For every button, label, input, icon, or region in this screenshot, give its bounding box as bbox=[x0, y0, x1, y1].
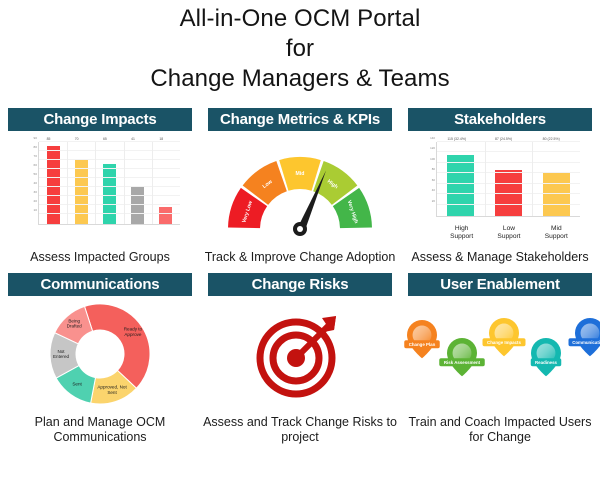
pin-icon: Readiness bbox=[531, 338, 562, 376]
panel-change-metrics-kpis[interactable]: Change Metrics & KPIs Very LowLowMidHigh… bbox=[200, 108, 400, 265]
chart-gridline bbox=[437, 183, 580, 184]
pin-icon: Communications bbox=[569, 318, 600, 356]
chart-plot-area: 115 (32.4%)87 (24.5%)80 (22.5%) 20406080… bbox=[436, 142, 580, 217]
chart-gridline bbox=[67, 142, 68, 224]
panel-body-user-enablement: Change PlanRisk AssessmentChange Impacts… bbox=[400, 296, 600, 411]
donut-slice-label: Sent bbox=[72, 381, 82, 386]
page-title: All-in-One OCM Portal for Change Manager… bbox=[0, 0, 600, 94]
pin-label: Change Plan bbox=[409, 341, 436, 346]
panel-row-bottom: Communications Ready toApproveApproved, … bbox=[0, 273, 600, 445]
chart-gridline bbox=[437, 151, 580, 152]
chart-bar: 18 bbox=[159, 207, 172, 223]
chart-x-tick-label: LowSupport bbox=[486, 225, 532, 241]
chart-bar: 80 (22.5%) bbox=[543, 173, 570, 215]
chart-y-tick-label: 40 bbox=[432, 188, 435, 192]
chart-x-tick-label: HighSupport bbox=[439, 225, 485, 241]
chart-y-tick-label: 50 bbox=[34, 172, 37, 176]
panel-caption-change-risks: Assess and Track Change Risks to project bbox=[202, 415, 398, 445]
pin-icon: Risk Assessment bbox=[439, 338, 485, 376]
chart-gridline bbox=[437, 172, 580, 173]
chart-gridline bbox=[39, 204, 180, 205]
donut-slice-label: BeingDrafted bbox=[67, 318, 83, 328]
gauge-hub-center bbox=[297, 226, 303, 232]
chart-gridline bbox=[437, 141, 580, 142]
chart-y-tick-label: 20 bbox=[432, 199, 435, 203]
chart-bars: 8570654118 bbox=[39, 142, 180, 224]
panel-caption-stakeholders: Assess & Manage Stakeholders bbox=[402, 250, 598, 265]
chart-y-tick-label: 60 bbox=[432, 178, 435, 182]
chart-y-tick-label: 120 bbox=[430, 146, 435, 150]
chart-y-tick-label: 80 bbox=[432, 167, 435, 171]
pin-label: Change Impacts bbox=[487, 339, 521, 344]
chart-gridline bbox=[437, 193, 580, 194]
chart-bar-group: 85 bbox=[47, 142, 60, 224]
chart-gridline bbox=[39, 150, 180, 151]
pin-icon: Change Impacts bbox=[483, 318, 526, 356]
chart-gridline bbox=[437, 162, 580, 163]
panel-caption-change-impacts: Assess Impacted Groups bbox=[2, 250, 198, 265]
user-enablement-pin-icons: Change PlanRisk AssessmentChange Impacts… bbox=[400, 302, 600, 406]
panel-body-stakeholders: 115 (32.4%)87 (24.5%)80 (22.5%) 20406080… bbox=[400, 131, 600, 246]
page-title-line-3: Change Managers & Teams bbox=[0, 64, 600, 94]
chart-bar: 65 bbox=[103, 164, 116, 223]
page-title-line-2: for bbox=[0, 34, 600, 64]
chart-y-tick-label: 140 bbox=[430, 136, 435, 140]
panel-header-stakeholders[interactable]: Stakeholders bbox=[408, 108, 592, 131]
page-title-line-1: All-in-One OCM Portal bbox=[0, 4, 600, 34]
chart-gridline bbox=[485, 142, 486, 216]
panel-stakeholders[interactable]: Stakeholders 115 (32.4%)87 (24.5%)80 (22… bbox=[400, 108, 600, 265]
chart-plot-area: 8570654118 102030405060708090 bbox=[38, 142, 180, 225]
chart-gridline bbox=[39, 195, 180, 196]
pin-label: Communications bbox=[572, 339, 600, 344]
chart-communications-donut: Ready toApproveApproved, NotSentSentNotE… bbox=[45, 299, 155, 409]
chart-gridline bbox=[39, 186, 180, 187]
panel-row-top: Change Impacts 8570654118 10203040506070… bbox=[0, 108, 600, 265]
chart-x-axis-labels: HighSupportLowSupportMidSupport bbox=[438, 225, 580, 241]
chart-gridline bbox=[39, 141, 180, 142]
chart-gridline bbox=[39, 168, 180, 169]
chart-gridline bbox=[437, 204, 580, 205]
chart-y-tick-label: 10 bbox=[34, 208, 37, 212]
panel-body-change-risks bbox=[200, 296, 400, 411]
chart-bar: 85 bbox=[47, 146, 60, 223]
chart-gridline bbox=[124, 142, 125, 224]
panel-header-change-metrics-kpis[interactable]: Change Metrics & KPIs bbox=[208, 108, 392, 131]
chart-bar-group: 65 bbox=[103, 142, 116, 224]
panel-user-enablement[interactable]: User Enablement Change PlanRisk Assessme… bbox=[400, 273, 600, 445]
panel-header-communications[interactable]: Communications bbox=[8, 273, 192, 296]
panel-body-change-impacts: 8570654118 102030405060708090 bbox=[0, 131, 200, 246]
chart-y-tick-label: 60 bbox=[34, 163, 37, 167]
panel-caption-communications: Plan and Manage OCM Communications bbox=[2, 415, 198, 445]
chart-gridline bbox=[95, 142, 96, 224]
pin-icon: Change Plan bbox=[404, 320, 440, 358]
chart-y-tick-label: 80 bbox=[34, 145, 37, 149]
chart-y-tick-label: 30 bbox=[34, 190, 37, 194]
chart-change-impacts: 8570654118 102030405060708090 bbox=[16, 137, 184, 241]
donut-slice-label: Ready toApprove bbox=[124, 326, 143, 336]
panel-header-change-impacts[interactable]: Change Impacts bbox=[8, 108, 192, 131]
gauge-segment-label: Mid bbox=[296, 171, 305, 177]
chart-gridline bbox=[39, 159, 180, 160]
panel-communications[interactable]: Communications Ready toApproveApproved, … bbox=[0, 273, 200, 445]
chart-gridline bbox=[39, 177, 180, 178]
pin-label: Readiness bbox=[535, 359, 558, 364]
chart-y-tick-label: 100 bbox=[430, 157, 435, 161]
panel-change-impacts[interactable]: Change Impacts 8570654118 10203040506070… bbox=[0, 108, 200, 265]
panel-change-risks[interactable]: Change Risks Assess and Track Change Ris… bbox=[200, 273, 400, 445]
chart-y-tick-label: 20 bbox=[34, 199, 37, 203]
chart-gridline bbox=[152, 142, 153, 224]
chart-gauge-kpi: Very LowLowMidHighVery High bbox=[214, 137, 386, 241]
chart-y-tick-label: 40 bbox=[34, 181, 37, 185]
chart-gridline bbox=[532, 142, 533, 216]
panel-header-change-risks[interactable]: Change Risks bbox=[208, 273, 392, 296]
panel-body-change-metrics-kpis: Very LowLowMidHighVery High bbox=[200, 131, 400, 246]
panel-body-communications: Ready toApproveApproved, NotSentSentNotE… bbox=[0, 296, 200, 411]
chart-x-tick-label: MidSupport bbox=[533, 225, 579, 241]
chart-y-tick-label: 90 bbox=[34, 136, 37, 140]
chart-gridline bbox=[39, 213, 180, 214]
panel-caption-change-metrics-kpis: Track & Improve Change Adoption bbox=[202, 250, 398, 265]
panel-caption-user-enablement: Train and Coach Impacted Users for Chang… bbox=[402, 415, 598, 445]
chart-y-tick-label: 70 bbox=[34, 154, 37, 158]
panel-grid: Change Impacts 8570654118 10203040506070… bbox=[0, 108, 600, 445]
pin-label: Risk Assessment bbox=[444, 359, 481, 364]
chart-bar: 115 (32.4%) bbox=[447, 155, 474, 216]
chart-bar-group: 70 bbox=[75, 142, 88, 224]
panel-header-user-enablement[interactable]: User Enablement bbox=[408, 273, 592, 296]
target-bullseye-arrow-icon bbox=[252, 306, 348, 402]
chart-bar-group: 41 bbox=[131, 142, 144, 224]
chart-bar-group: 18 bbox=[159, 142, 172, 224]
chart-stakeholders: 115 (32.4%)87 (24.5%)80 (22.5%) 20406080… bbox=[416, 137, 584, 241]
